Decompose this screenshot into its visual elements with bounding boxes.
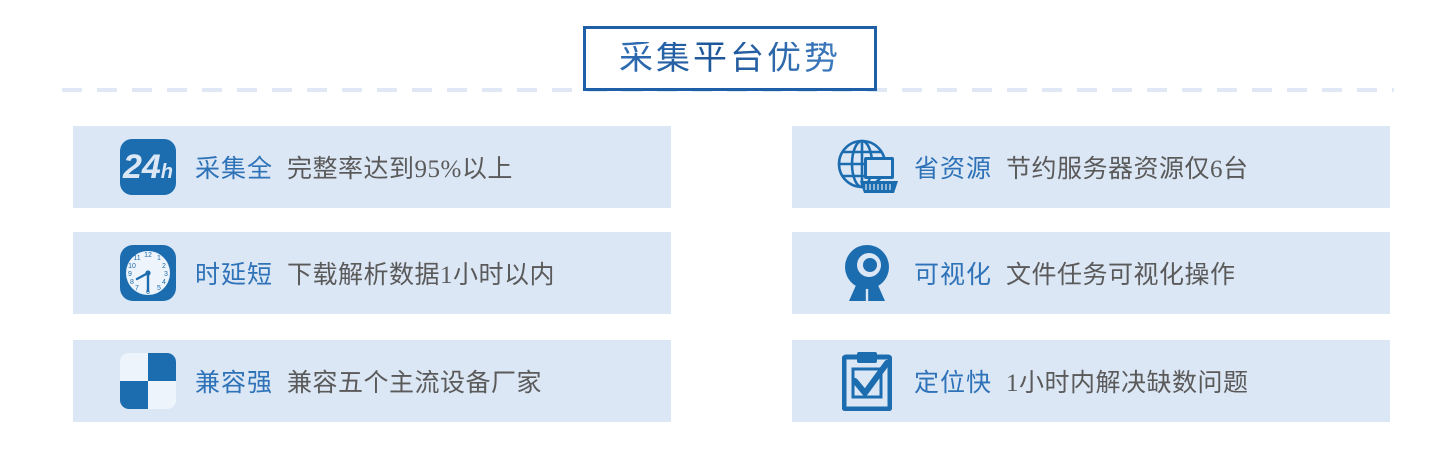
feature-desc: 1小时内解决缺数问题 bbox=[1006, 363, 1249, 399]
feature-title: 定位快 bbox=[914, 363, 992, 399]
svg-text:12: 12 bbox=[144, 252, 152, 259]
feature-text: 可视化 文件任务可视化操作 bbox=[914, 255, 1236, 291]
24h-badge-number: 24h bbox=[123, 139, 173, 200]
feature-text: 时延短 下载解析数据1小时以内 bbox=[195, 255, 555, 291]
feature-card-grid: 24h 采集全 完整率达到95%以上 bbox=[73, 126, 1390, 423]
feature-title: 采集全 bbox=[195, 149, 273, 185]
feature-text: 兼容强 兼容五个主流设备厂家 bbox=[195, 363, 542, 399]
svg-text:5: 5 bbox=[157, 285, 161, 292]
globe-laptop-icon bbox=[836, 136, 898, 198]
feature-title: 兼容强 bbox=[195, 363, 273, 399]
24h-badge-icon: 24h bbox=[117, 136, 179, 198]
svg-text:11: 11 bbox=[133, 255, 140, 262]
page-title: 采集平台优势 bbox=[619, 42, 841, 76]
feature-desc: 兼容五个主流设备厂家 bbox=[287, 363, 542, 399]
feature-desc: 节约服务器资源仅6台 bbox=[1006, 149, 1249, 185]
svg-text:3: 3 bbox=[164, 271, 168, 278]
feature-desc: 完整率达到95%以上 bbox=[287, 149, 513, 185]
feature-desc: 文件任务可视化操作 bbox=[1006, 255, 1236, 291]
feature-title: 时延短 bbox=[195, 255, 273, 291]
webcam-icon bbox=[836, 242, 898, 304]
svg-text:1: 1 bbox=[157, 255, 161, 262]
svg-text:4: 4 bbox=[162, 279, 166, 286]
feature-text: 定位快 1小时内解决缺数问题 bbox=[914, 363, 1249, 399]
svg-text:7: 7 bbox=[135, 285, 139, 292]
feature-card-latency[interactable]: 12 1 2 3 4 5 6 7 8 9 10 11 时延短 下载解析数据1小时… bbox=[73, 232, 671, 314]
feature-title: 省资源 bbox=[914, 149, 992, 185]
feature-card-collection[interactable]: 24h 采集全 完整率达到95%以上 bbox=[73, 126, 671, 208]
page-title-box: 采集平台优势 bbox=[583, 26, 877, 91]
svg-text:2: 2 bbox=[162, 263, 166, 270]
feature-desc: 下载解析数据1小时以内 bbox=[287, 255, 555, 291]
feature-text: 省资源 节约服务器资源仅6台 bbox=[914, 149, 1249, 185]
svg-text:8: 8 bbox=[130, 279, 134, 286]
feature-title: 可视化 bbox=[914, 255, 992, 291]
feature-card-resources[interactable]: 省资源 节约服务器资源仅6台 bbox=[792, 126, 1390, 208]
feature-card-positioning[interactable]: 定位快 1小时内解决缺数问题 bbox=[792, 340, 1390, 422]
svg-text:10: 10 bbox=[128, 263, 136, 270]
clipboard-check-icon bbox=[836, 350, 898, 412]
clock-icon: 12 1 2 3 4 5 6 7 8 9 10 11 bbox=[117, 242, 179, 304]
feature-text: 采集全 完整率达到95%以上 bbox=[195, 149, 513, 185]
feature-card-visualization[interactable]: 可视化 文件任务可视化操作 bbox=[792, 232, 1390, 314]
page-header: 采集平台优势 bbox=[0, 0, 1456, 100]
checkerboard-icon bbox=[117, 350, 179, 412]
svg-text:6: 6 bbox=[146, 289, 150, 296]
feature-card-compatibility[interactable]: 兼容强 兼容五个主流设备厂家 bbox=[73, 340, 671, 422]
svg-text:9: 9 bbox=[128, 271, 132, 278]
